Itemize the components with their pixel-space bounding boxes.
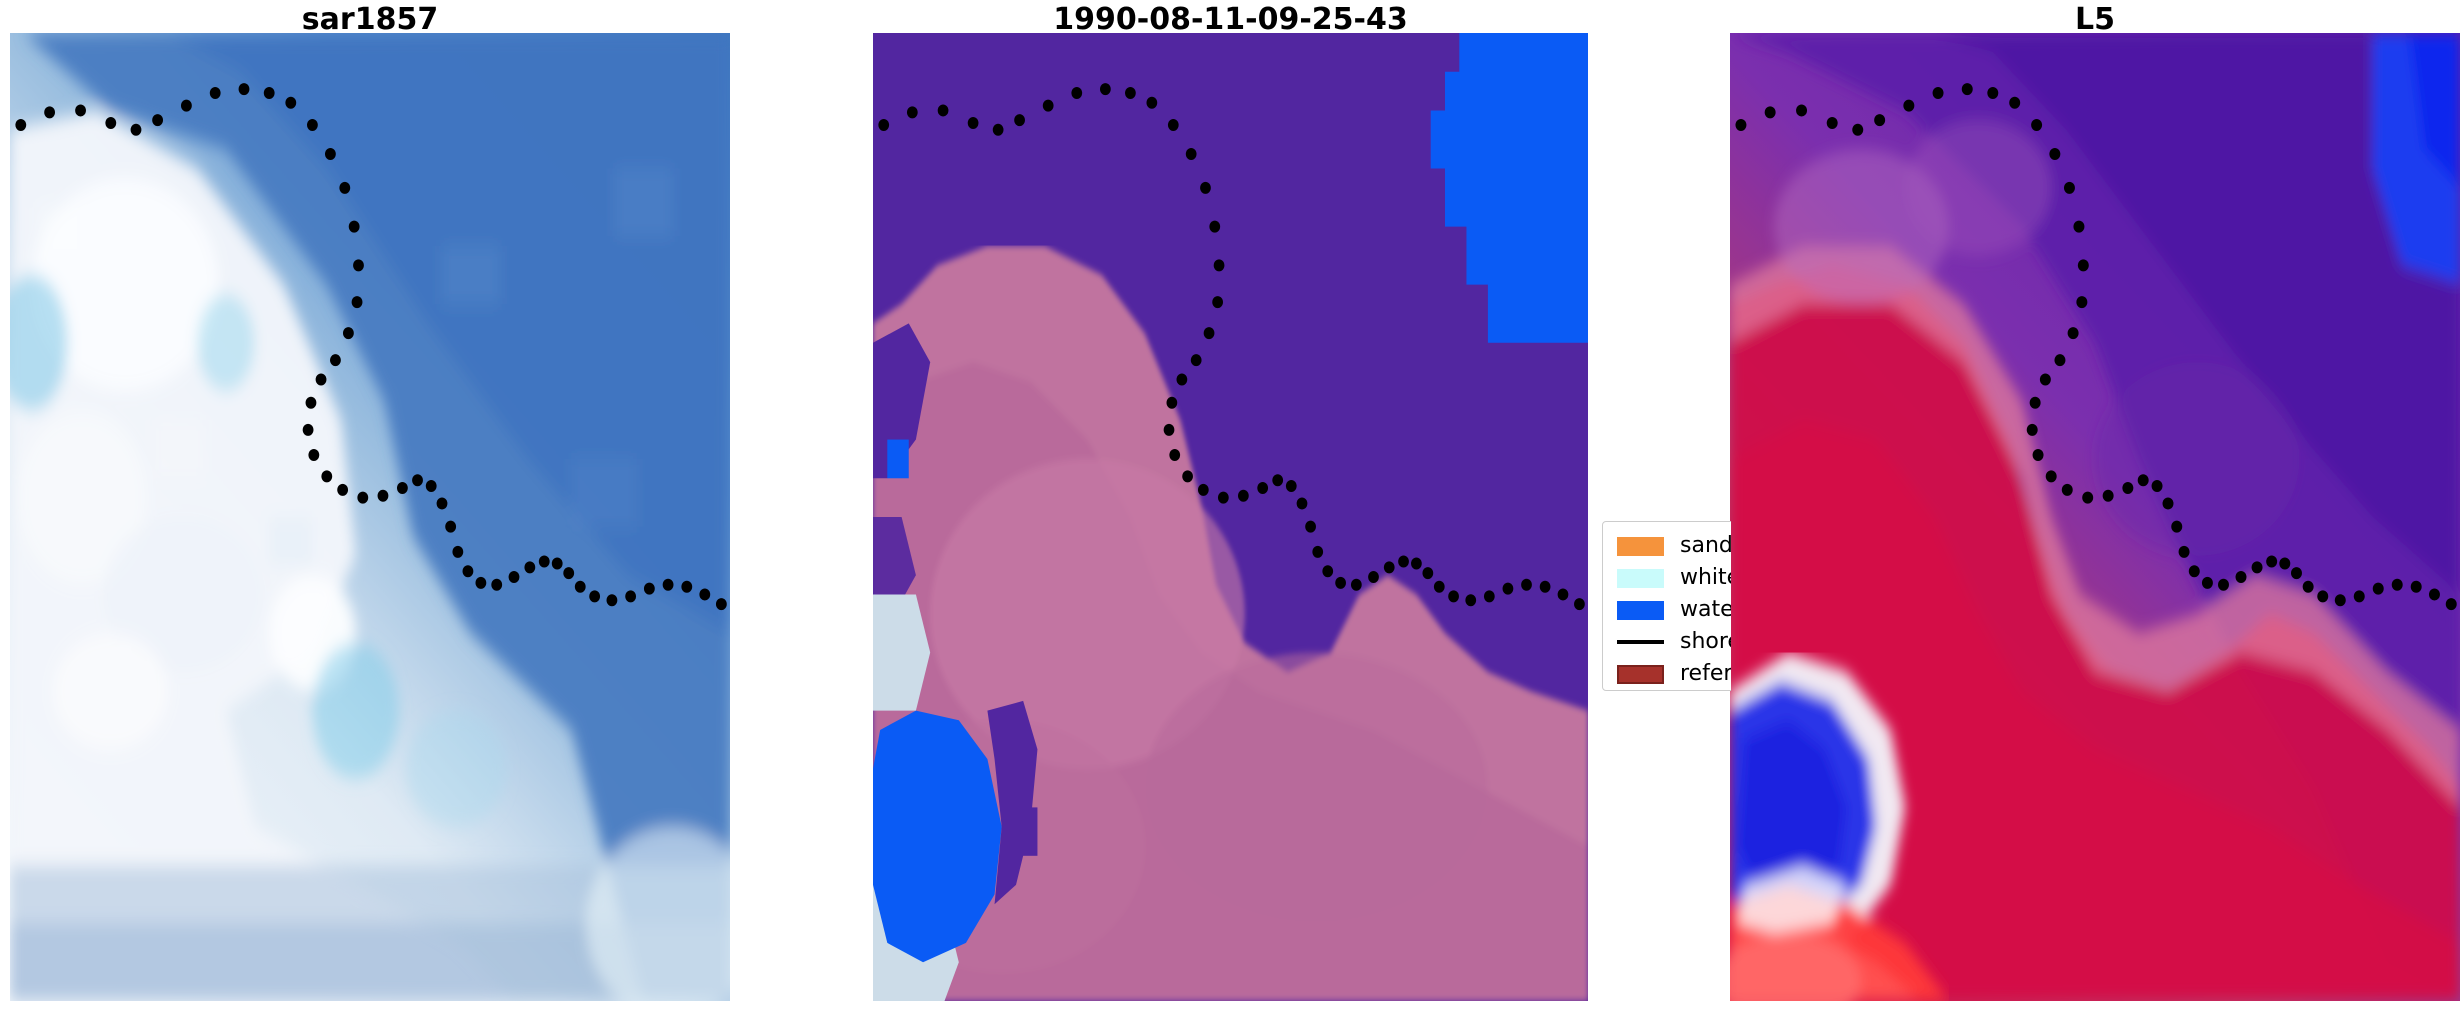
legend: sand whitew water shoreli referen: [1602, 521, 1731, 693]
classification-raster: [873, 33, 1588, 1001]
legend-label-reference: referen: [1680, 663, 1731, 685]
panel-image-classified: [873, 33, 1588, 1001]
panel-title-classified: 1990-08-11-09-25-43: [873, 2, 1588, 37]
reference-swatch: [1617, 665, 1664, 684]
legend-item-sand[interactable]: sand: [1603, 530, 1731, 562]
l5-index-raster: [1730, 33, 2460, 1001]
legend-label-whitewater: whitew: [1680, 567, 1731, 589]
legend-box: sand whitew water shoreli referen: [1602, 521, 1731, 691]
sand-swatch: [1617, 537, 1664, 556]
legend-item-reference[interactable]: referen: [1603, 658, 1731, 690]
panel-sar1857: sar1857: [10, 0, 730, 1001]
panel-image-l5: [1730, 33, 2460, 1001]
panel-title-sar1857: sar1857: [10, 2, 730, 37]
water-swatch: [1617, 601, 1664, 620]
legend-label-sand: sand: [1680, 535, 1731, 557]
panel-l5: L5: [1730, 0, 2460, 1001]
sar-backscatter-raster: [10, 33, 730, 1001]
panel-title-l5: L5: [1730, 2, 2460, 37]
figure-canvas: sar1857: [0, 0, 2460, 1010]
panel-classified: 1990-08-11-09-25-43: [873, 0, 1588, 1001]
legend-label-water: water: [1680, 599, 1731, 621]
legend-item-whitewater[interactable]: whitew: [1603, 562, 1731, 594]
legend-item-water[interactable]: water: [1603, 594, 1731, 626]
legend-item-shoreline[interactable]: shoreli: [1603, 626, 1731, 658]
shoreline-line-swatch: [1617, 640, 1664, 644]
whitewater-swatch: [1617, 569, 1664, 588]
legend-label-shoreline: shoreli: [1680, 631, 1731, 653]
panel-image-sar1857: [10, 33, 730, 1001]
